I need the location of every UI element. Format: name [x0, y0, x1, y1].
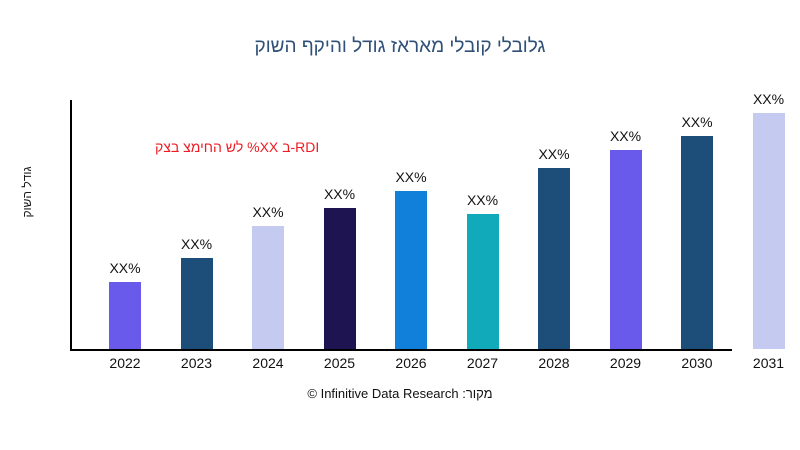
y-axis-label: גודל השוק [20, 127, 34, 257]
x-tick-label: 2028 [538, 355, 569, 371]
source-caption: מקור: Infinitive Data Research © [0, 386, 800, 401]
bar-group[interactable]: XX% [467, 214, 499, 349]
x-tick-label: 2027 [467, 355, 498, 371]
bar-value-label: XX% [181, 236, 212, 252]
x-tick-label: 2025 [324, 355, 355, 371]
x-tick-label: 2030 [681, 355, 712, 371]
bar-value-label: XX% [610, 128, 641, 144]
bar-group[interactable]: XX% [109, 282, 141, 349]
bar-value-label: XX% [681, 114, 712, 130]
bar[interactable] [538, 168, 570, 349]
bar-value-label: XX% [109, 260, 140, 276]
bar[interactable] [467, 214, 499, 349]
chart-title: גלובלי קובלי מאראז גודל והיקף השוק [0, 36, 800, 58]
bar-group[interactable]: XX% [324, 208, 356, 349]
bar-group[interactable]: XX% [252, 226, 284, 349]
bar-value-label: XX% [324, 186, 355, 202]
bar-group[interactable]: XX% [753, 113, 785, 349]
x-tick-label: 2031 [753, 355, 784, 371]
x-tick-label: 2022 [109, 355, 140, 371]
chart-container: גלובלי קובלי מאראז גודל והיקף השוק גודל … [0, 0, 800, 450]
bar-group[interactable]: XX% [181, 258, 213, 349]
bar-group[interactable]: XX% [538, 168, 570, 349]
x-tick-label: 2029 [610, 355, 641, 371]
bar-value-label: XX% [753, 91, 784, 107]
bar-value-label: XX% [538, 146, 569, 162]
bar[interactable] [252, 226, 284, 349]
bar[interactable] [181, 258, 213, 349]
bar[interactable] [395, 191, 427, 349]
bar[interactable] [324, 208, 356, 349]
x-tick-label: 2023 [181, 355, 212, 371]
bar-value-label: XX% [252, 204, 283, 220]
x-axis-tick-labels: 2022202320242025202620272028202920302031 [70, 355, 788, 379]
x-tick-label: 2024 [252, 355, 283, 371]
y-axis-label-wrapper: גודל השוק [16, 130, 38, 260]
bar[interactable] [610, 150, 642, 349]
bar[interactable] [109, 282, 141, 349]
bar-group[interactable]: XX% [610, 150, 642, 349]
bar-value-label: XX% [467, 192, 498, 208]
bar-value-label: XX% [395, 169, 426, 185]
x-tick-label: 2026 [395, 355, 426, 371]
bars-layer: XX%XX%XX%XX%XX%XX%XX%XX%XX%XX% [70, 100, 788, 351]
bar[interactable] [753, 113, 785, 349]
bar-group[interactable]: XX% [681, 136, 713, 349]
bar[interactable] [681, 136, 713, 349]
plot-area: IDR-ב XX% לש החימצ בצק XX%XX%XX%XX%XX%XX… [70, 100, 788, 351]
bar-group[interactable]: XX% [395, 191, 427, 349]
